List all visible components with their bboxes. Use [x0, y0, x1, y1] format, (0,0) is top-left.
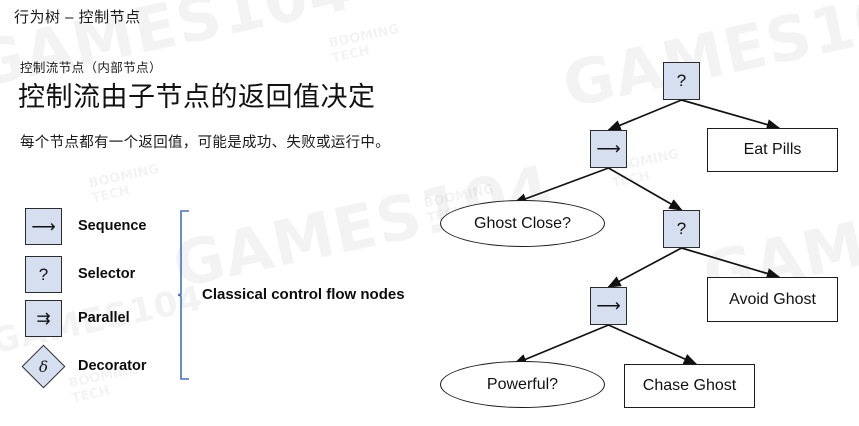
tree-node-sequence-2[interactable]: ⟶: [590, 287, 627, 325]
tree-node-label: ⟶: [596, 139, 620, 159]
tree-edge-sequence-2-to-powerful: [514, 325, 608, 364]
tree-node-label: Chase Ghost: [643, 377, 736, 395]
tree-edges: [0, 0, 859, 426]
tree-node-label: ⟶: [596, 296, 620, 316]
behavior-tree-diagram: ?⟶Eat PillsGhost Close??⟶Avoid GhostPowe…: [0, 0, 859, 426]
tree-node-avoid-ghost[interactable]: Avoid Ghost: [707, 277, 838, 322]
tree-node-root-selector[interactable]: ?: [663, 62, 700, 100]
tree-node-powerful[interactable]: Powerful?: [440, 361, 605, 408]
tree-node-label: Ghost Close?: [474, 215, 571, 233]
tree-edge-selector-2-to-avoid-ghost: [682, 248, 780, 277]
tree-node-selector-2[interactable]: ?: [663, 210, 700, 248]
tree-node-label: Powerful?: [487, 376, 558, 394]
tree-edge-sequence-1-to-selector-2: [609, 168, 682, 210]
tree-node-label: Avoid Ghost: [729, 291, 816, 309]
tree-edge-selector-2-to-sequence-2: [609, 248, 682, 287]
tree-node-sequence-1[interactable]: ⟶: [590, 130, 627, 168]
tree-node-ghost-close[interactable]: Ghost Close?: [440, 200, 605, 247]
tree-edge-sequence-1-to-ghost-close: [514, 168, 608, 203]
tree-node-label: Eat Pills: [744, 141, 802, 159]
slide-canvas: GAMES104 GAMES104 GAMES104 GAMES104 GAME…: [0, 0, 859, 426]
tree-edge-root-selector-to-sequence-1: [609, 100, 682, 130]
tree-edge-sequence-2-to-chase-ghost: [609, 325, 697, 364]
tree-node-chase-ghost[interactable]: Chase Ghost: [624, 364, 755, 408]
tree-node-eat-pills[interactable]: Eat Pills: [707, 128, 838, 172]
tree-edge-root-selector-to-eat-pills: [682, 100, 780, 128]
tree-node-label: ?: [677, 71, 686, 91]
tree-node-label: ?: [677, 219, 686, 239]
